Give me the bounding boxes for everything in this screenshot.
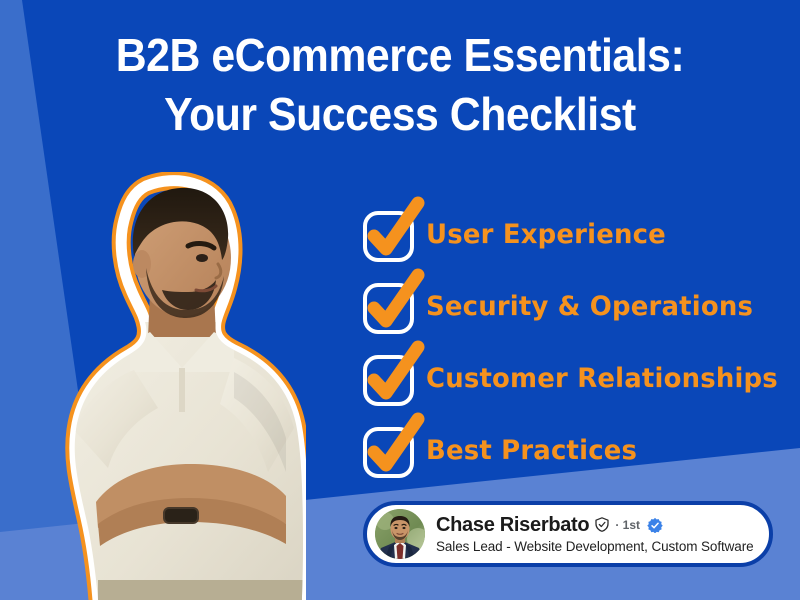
checklist: User Experience Security & Operations Cu… (362, 206, 762, 478)
connection-degree: · 1st (615, 517, 640, 533)
checklist-item-label: Customer Relationships (426, 365, 778, 392)
checklist-item-label: Best Practices (426, 437, 637, 464)
title-line-2: Your Success Checklist (28, 85, 772, 144)
checklist-item[interactable]: User Experience (362, 206, 762, 262)
checkbox-checked[interactable] (362, 282, 410, 330)
shield-check-icon (594, 516, 610, 533)
checklist-item[interactable]: Customer Relationships (362, 350, 762, 406)
checklist-item-label: Security & Operations (426, 293, 753, 320)
profile-name-row: Chase Riserbato · 1st (436, 514, 754, 536)
checkbox-checked[interactable] (362, 354, 410, 402)
page-title: B2B eCommerce Essentials: Your Success C… (28, 26, 772, 144)
presenter-portrait (38, 172, 306, 600)
checklist-item[interactable]: Best Practices (362, 422, 762, 478)
profile-subtitle: Sales Lead - Website Development, Custom… (436, 539, 754, 555)
checkbox-checked[interactable] (362, 426, 410, 474)
profile-card-text: Chase Riserbato · 1st Sales Lead - Websi… (436, 514, 754, 555)
title-line-1: B2B eCommerce Essentials: (28, 26, 772, 85)
checklist-item-label: User Experience (426, 221, 666, 248)
checklist-item[interactable]: Security & Operations (362, 278, 762, 334)
checkbox-checked[interactable] (362, 210, 410, 258)
avatar (375, 509, 425, 559)
profile-card[interactable]: Chase Riserbato · 1st Sales Lead - Websi… (363, 501, 773, 567)
profile-name: Chase Riserbato (436, 515, 589, 535)
verified-badge-icon (647, 517, 663, 533)
poster-canvas: B2B eCommerce Essentials: Your Success C… (0, 0, 800, 600)
